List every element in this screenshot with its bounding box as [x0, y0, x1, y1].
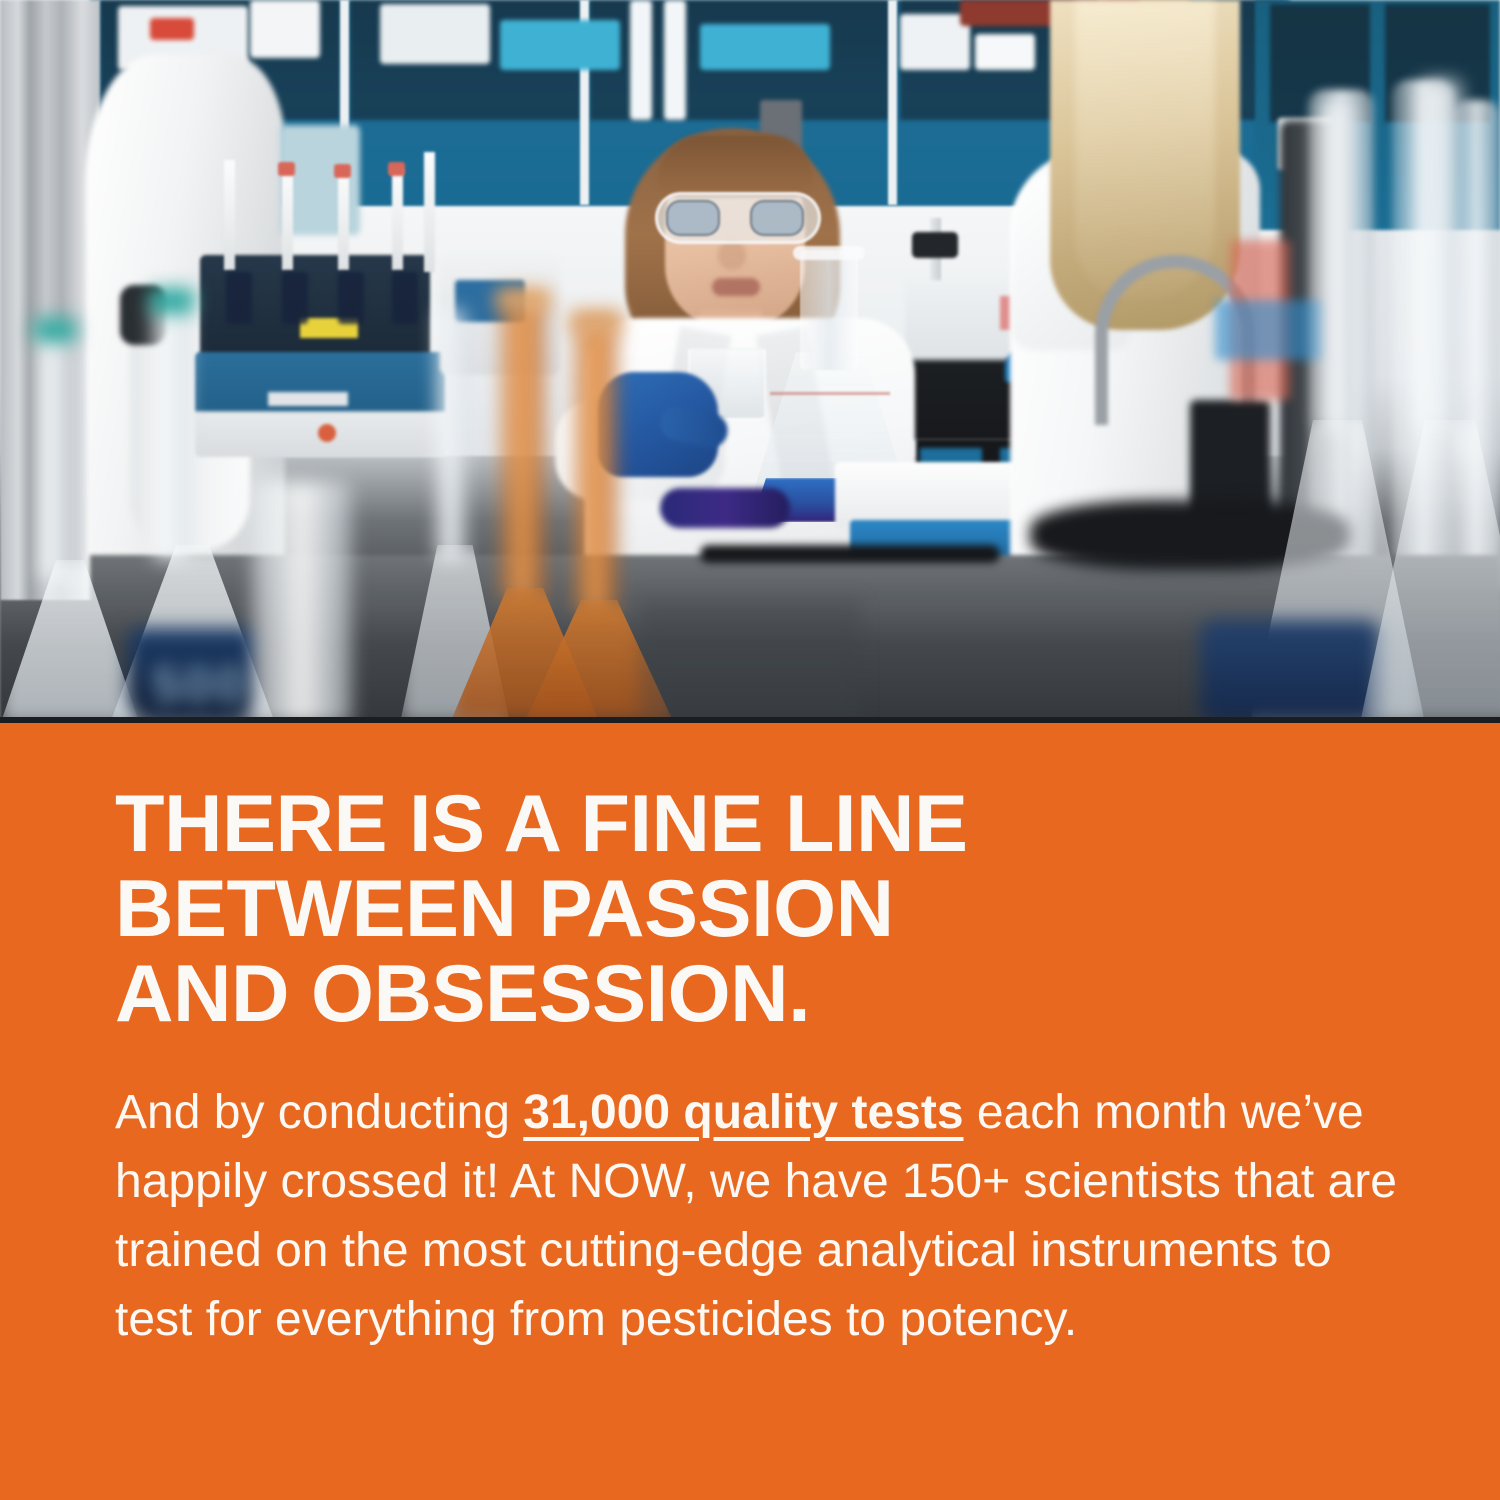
power-cable: [700, 545, 1000, 563]
foreground-amber-flask-neck: [574, 322, 618, 612]
foreground-shadow: [640, 600, 860, 723]
cabinet-cylinder: [630, 0, 652, 120]
body-emphasis-stat: 31,000 quality tests: [523, 1086, 963, 1139]
tube-cap: [278, 162, 295, 176]
cabinet-box: [975, 34, 1035, 70]
cabinet-blue-bottle: [700, 24, 830, 70]
foreground-amber-flask-neck: [500, 300, 546, 600]
blue-shelf-item: [1215, 300, 1325, 360]
erlenmeyer-flask-neck: [800, 250, 858, 370]
advertisement-card: 500 There is a fine line between passion…: [0, 0, 1500, 1500]
scientist-fringe: [658, 135, 813, 197]
sample-vial: [392, 272, 418, 324]
scientist-mouth: [712, 278, 760, 296]
instrument-display: [268, 392, 348, 406]
flask-volume-label: 500: [152, 656, 248, 716]
eyeglass-lens-right: [750, 200, 804, 236]
cabinet-blue-bottle: [500, 20, 620, 70]
cabinet-red-label: [150, 18, 194, 40]
foreground-glassware-neck: [1418, 80, 1462, 430]
instrument-indicator: [318, 424, 336, 442]
body-lead: And by conducting: [115, 1086, 523, 1139]
foreground-volumetric-flask-neck: [152, 300, 190, 560]
sample-tube: [424, 152, 435, 272]
amber-flask-cap: [570, 310, 622, 332]
sample-vial: [282, 272, 308, 324]
flask-dark-contents-500ml: 500: [128, 628, 258, 723]
sample-vial: [338, 272, 364, 324]
foreground-dark-liquid: [1200, 620, 1380, 723]
body-copy: And by conducting 31,000 quality tests e…: [115, 1078, 1405, 1354]
scientist-nose: [718, 240, 746, 270]
tube-cap: [334, 164, 351, 178]
sample-tube: [224, 160, 235, 270]
cabinet-mullion: [888, 0, 897, 205]
sample-vial: [226, 272, 252, 324]
flask-graduation-mark: [770, 392, 890, 395]
sample-tube: [338, 170, 349, 270]
lab-clamp: [912, 232, 958, 258]
tube-cap: [388, 162, 405, 176]
laboratory-photo: 500: [0, 0, 1500, 723]
foreground-bottle: [252, 480, 352, 723]
cabinet-box: [380, 4, 490, 64]
sample-tube: [392, 168, 403, 270]
second-scientist-hair-highlight: [1075, 0, 1215, 300]
flask-lip: [793, 246, 865, 260]
cabinet-cylinder: [664, 0, 686, 120]
foreground-flask-neck: [436, 310, 466, 560]
headline: There is a fine line between passion and…: [115, 782, 1405, 1037]
eyeglass-lens-left: [666, 200, 720, 236]
foreground-volumetric-flask-neck: [38, 330, 72, 580]
flask-teal-cap: [150, 288, 194, 314]
foreground-glassware-neck: [1318, 100, 1358, 430]
purple-liquid-pool: [660, 488, 790, 528]
flask-teal-cap: [34, 318, 76, 342]
amber-flask-cap: [496, 288, 550, 310]
cabinet-box: [250, 0, 320, 58]
sample-tube: [282, 168, 293, 270]
